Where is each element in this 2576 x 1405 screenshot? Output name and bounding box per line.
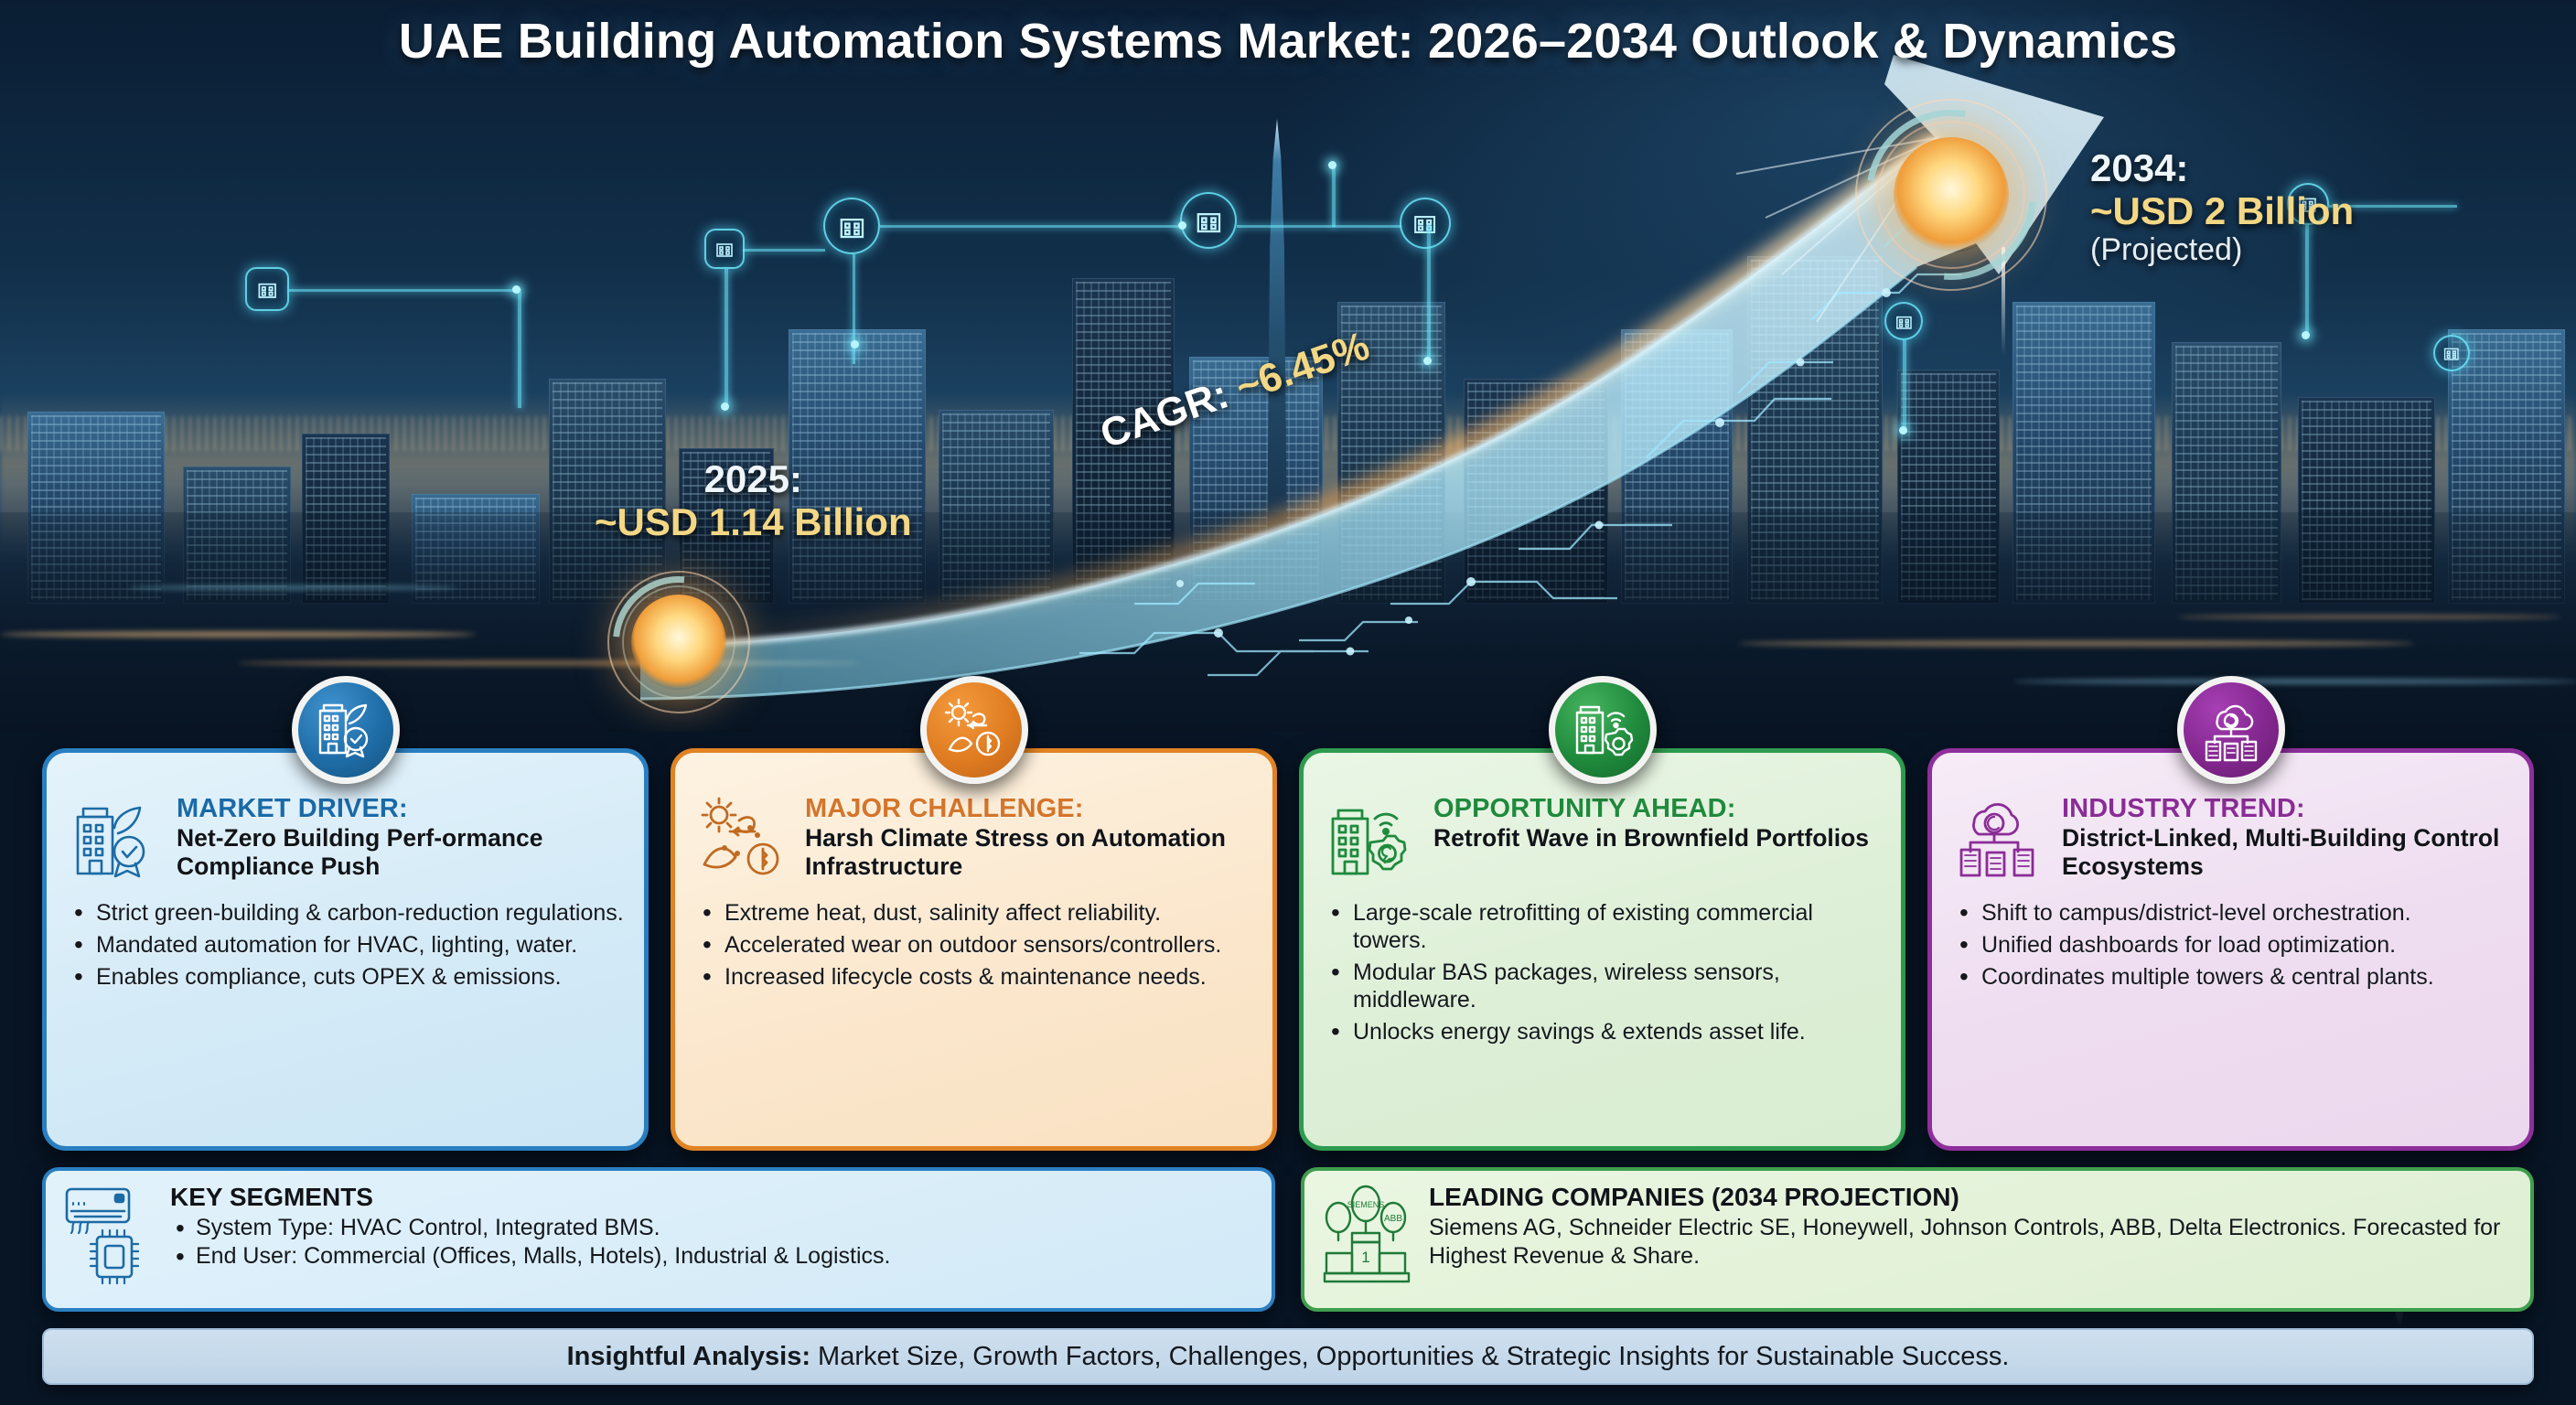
card-industry-trend[interactable]: INDUSTRY TREND: District-Linked, Multi-B… bbox=[1927, 748, 2534, 1151]
light-streak bbox=[238, 660, 860, 666]
callout-2025-value: ~USD 1.14 Billion bbox=[595, 500, 912, 543]
building-certified-leaf-icon bbox=[292, 676, 400, 784]
panel-bullet-list: System Type: HVAC Control, Integrated BM… bbox=[170, 1214, 1255, 1271]
iot-node-dot bbox=[1328, 161, 1336, 169]
marker-2034-node bbox=[1894, 137, 2009, 252]
iot-connector-line bbox=[880, 225, 1182, 228]
card-bullet: Shift to campus/district-level orchestra… bbox=[1954, 899, 2511, 927]
callout-2025-year: 2025: bbox=[595, 457, 912, 500]
panel-key-segments[interactable]: KEY SEGMENTS System Type: HVAC Control, … bbox=[42, 1167, 1275, 1312]
iot-node-dot bbox=[1178, 221, 1186, 230]
iot-node-dot bbox=[721, 402, 729, 411]
iot-node-dot bbox=[1423, 357, 1432, 365]
iot-node-icon bbox=[245, 267, 289, 311]
iot-node-icon bbox=[1400, 198, 1451, 249]
card-kicker: OPPORTUNITY AHEAD: bbox=[1433, 795, 1883, 822]
building-wifi-wrench-gear-icon bbox=[1326, 795, 1421, 890]
panel-title: KEY SEGMENTS bbox=[170, 1184, 1255, 1212]
light-streak bbox=[0, 631, 476, 638]
card-market-driver[interactable]: MARKET DRIVER: Net-Zero Building Perf-or… bbox=[42, 748, 649, 1151]
card-bullet-list: Strict green-building & carbon-reduction… bbox=[69, 899, 626, 991]
iot-node-dot bbox=[851, 340, 859, 349]
iot-connector-line bbox=[1237, 225, 1401, 228]
iot-connector-line bbox=[518, 289, 521, 408]
building-leaf-award-icon bbox=[69, 795, 164, 890]
card-kicker: MAJOR CHALLENGE: bbox=[805, 795, 1254, 822]
card-opportunity-ahead[interactable]: OPPORTUNITY AHEAD: Retrofit Wave in Brow… bbox=[1299, 748, 1905, 1151]
card-bullet: Unified dashboards for load optimization… bbox=[1954, 931, 2511, 959]
iot-node-dot bbox=[1899, 426, 1907, 434]
iot-node-icon bbox=[2433, 335, 2470, 371]
card-subtitle: Net-Zero Building Perf-ormance Complianc… bbox=[177, 824, 626, 880]
callout-2034-value: ~USD 2 Billion bbox=[2090, 189, 2354, 232]
card-bullet-list: Large-scale retrofitting of existing com… bbox=[1326, 899, 1883, 1046]
light-streak bbox=[128, 585, 457, 590]
iot-node-icon bbox=[1884, 302, 1923, 340]
panel-bullet: System Type: HVAC Control, Integrated BM… bbox=[170, 1214, 1255, 1243]
card-subtitle: Retrofit Wave in Brownfield Portfolios bbox=[1433, 824, 1883, 853]
callout-2034-year: 2034: bbox=[2090, 146, 2354, 189]
callout-2025: 2025: ~USD 1.14 Billion bbox=[595, 457, 912, 543]
light-streak bbox=[2012, 679, 2576, 684]
page-title: UAE Building Automation Systems Market: … bbox=[0, 13, 2576, 70]
panel-title: LEADING COMPANIES (2034 PROJECTION) bbox=[1429, 1184, 2514, 1212]
sun-dust-thermometer-icon bbox=[920, 676, 1028, 784]
card-bullet: Enables compliance, cuts OPEX & emission… bbox=[69, 963, 626, 991]
card-bullet: Increased lifecycle costs & maintenance … bbox=[697, 963, 1254, 991]
infographic-canvas: UAE Building Automation Systems Market: … bbox=[0, 0, 2576, 1405]
card-bullet: Coordinates multiple towers & central pl… bbox=[1954, 963, 2511, 991]
iot-connector-line bbox=[1427, 225, 1431, 362]
iot-node-icon bbox=[704, 229, 745, 269]
iot-node-icon bbox=[823, 198, 880, 254]
svg-text:SIEMENS: SIEMENS bbox=[1347, 1200, 1385, 1209]
card-kicker: INDUSTRY TREND: bbox=[2062, 795, 2511, 822]
iot-connector-line bbox=[743, 249, 825, 252]
card-bullet: Strict green-building & carbon-reduction… bbox=[69, 899, 626, 927]
card-bullet: Modular BAS packages, wireless sensors, … bbox=[1326, 959, 1883, 1014]
footer-rest: Market Size, Growth Factors, Challenges,… bbox=[810, 1342, 2009, 1371]
cloud-network-buildings-icon bbox=[2177, 676, 2285, 784]
card-bullet: Large-scale retrofitting of existing com… bbox=[1326, 899, 1883, 954]
iot-connector-line bbox=[1903, 340, 1906, 432]
sun-sandstorm-thermometer-icon bbox=[697, 795, 792, 890]
card-bullet: Accelerated wear on outdoor sensors/cont… bbox=[697, 931, 1254, 959]
cloud-gear-network-buildings-icon bbox=[1954, 795, 2049, 890]
callout-2034-note: (Projected) bbox=[2090, 232, 2354, 267]
panel-body: Siemens AG, Schneider Electric SE, Honey… bbox=[1429, 1214, 2514, 1271]
summary-panels: KEY SEGMENTS System Type: HVAC Control, … bbox=[42, 1167, 2534, 1312]
svg-text:1: 1 bbox=[1361, 1249, 1369, 1266]
card-major-challenge[interactable]: MAJOR CHALLENGE: Harsh Climate Stress on… bbox=[671, 748, 1277, 1151]
card-subtitle: District-Linked, Multi-Building Control … bbox=[2062, 824, 2511, 880]
iot-connector-line bbox=[289, 289, 518, 292]
iot-connector-line bbox=[1332, 163, 1336, 227]
card-bullet-list: Shift to campus/district-level orchestra… bbox=[1954, 899, 2511, 991]
iot-connector-line bbox=[724, 269, 728, 406]
card-bullet: Unlocks energy savings & extends asset l… bbox=[1326, 1018, 1883, 1046]
podium-winners-icon: SIEMENS ABB 1 bbox=[1321, 1184, 1412, 1290]
card-bullet: Mandated automation for HVAC, lighting, … bbox=[69, 931, 626, 959]
marker-2025-node bbox=[631, 595, 726, 690]
light-streak bbox=[1738, 640, 2415, 647]
svg-text:ABB: ABB bbox=[1384, 1214, 1402, 1224]
insight-cards: MARKET DRIVER: Net-Zero Building Perf-or… bbox=[42, 748, 2534, 1151]
footer-lead: Insightful Analysis: bbox=[567, 1342, 810, 1371]
building-wifi-gear-icon bbox=[1549, 676, 1657, 784]
card-bullet: Extreme heat, dust, salinity affect reli… bbox=[697, 899, 1254, 927]
iot-node-dot bbox=[512, 285, 521, 294]
iot-node-dot bbox=[2302, 331, 2310, 339]
iot-node-icon bbox=[1180, 192, 1237, 249]
footer-bar: Insightful Analysis: Market Size, Growth… bbox=[42, 1328, 2534, 1385]
light-streak bbox=[2177, 615, 2561, 619]
card-bullet-list: Extreme heat, dust, salinity affect reli… bbox=[697, 899, 1254, 991]
card-subtitle: Harsh Climate Stress on Automation Infra… bbox=[805, 824, 1254, 880]
hvac-unit-chip-icon bbox=[62, 1184, 154, 1290]
callout-2034: 2034: ~USD 2 Billion (Projected) bbox=[2090, 146, 2354, 267]
panel-leading-companies[interactable]: SIEMENS ABB 1 LEADING COMPANIES (2034 PR… bbox=[1301, 1167, 2534, 1312]
card-kicker: MARKET DRIVER: bbox=[177, 795, 626, 822]
panel-bullet: End User: Commercial (Offices, Malls, Ho… bbox=[170, 1242, 1255, 1271]
